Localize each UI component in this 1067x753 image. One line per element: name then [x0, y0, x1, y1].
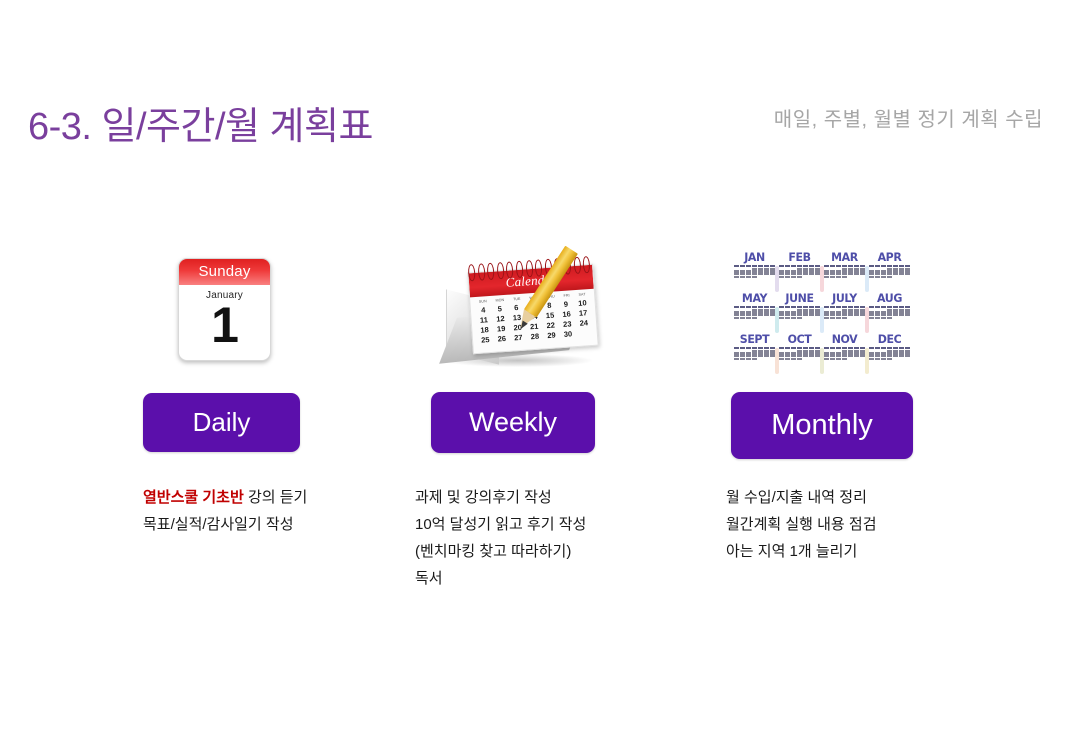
year-calendar-mini-grid: [779, 347, 820, 360]
year-calendar-month-name: FEB: [779, 252, 820, 265]
spiral-ring: [525, 260, 533, 277]
year-calendar-mini-grid: [734, 306, 775, 319]
year-calendar-row: MAYJUNEJULYAUG: [732, 293, 912, 333]
weekly-task-list: 과제 및 강의후기 작성10억 달성기 읽고 후기 작성(벤치마킹 찾고 따라하…: [415, 484, 586, 592]
spiral-ring: [583, 256, 591, 273]
desk-calendar-date: 28: [526, 331, 543, 342]
year-calendar-month: DEC: [867, 334, 912, 374]
year-calendar-month: OCT: [777, 334, 822, 374]
column-weekly: Calendar SUNMONTUEWEDTHUFRISAT 456789101…: [418, 240, 668, 380]
year-calendar-mini-grid: [869, 347, 910, 360]
spiral-ring: [477, 263, 485, 280]
year-calendar-month-name: JUNE: [779, 293, 820, 306]
year-calendar-month-name: SEPT: [734, 334, 775, 347]
year-calendar-month: JUNE: [777, 293, 822, 333]
task-highlight: 열반스쿨 기초반: [143, 489, 244, 506]
task-item: 과제 및 강의후기 작성: [415, 484, 586, 511]
year-calendar-month-name: OCT: [779, 334, 820, 347]
year-calendar-month: JULY: [822, 293, 867, 333]
task-item: 열반스쿨 기초반 강의 듣기: [143, 484, 307, 511]
daily-button[interactable]: Daily: [143, 393, 300, 452]
year-calendar-month: FEB: [777, 252, 822, 292]
weekly-icon-zone: Calendar SUNMONTUEWEDTHUFRISAT 456789101…: [418, 240, 668, 380]
year-calendar-month-name: APR: [869, 252, 910, 265]
year-calendar-month-name: DEC: [869, 334, 910, 347]
desk-calendar-date: 30: [559, 329, 576, 340]
year-calendar-month: JAN: [732, 252, 777, 292]
year-calendar-month: AUG: [867, 293, 912, 333]
year-calendar-month: MAR: [822, 252, 867, 292]
desk-calendar-day-name: MON: [495, 298, 504, 303]
spiral-ring: [506, 261, 514, 278]
year-calendar-mini-grid: [869, 306, 910, 319]
year-calendar-month-name: AUG: [869, 293, 910, 306]
spiral-ring: [468, 264, 476, 281]
desk-calendar-date: 24: [575, 318, 592, 329]
year-calendar-month-name: MAY: [734, 293, 775, 306]
daily-icon-zone: Sunday January 1: [143, 240, 393, 380]
desk-calendar-date: 26: [493, 334, 510, 345]
monthly-task-list: 월 수입/지출 내역 정리월간계획 실행 내용 점검아는 지역 1개 늘리기: [726, 484, 877, 565]
year-calendar-mini-grid: [824, 306, 865, 319]
year-calendar-month-name: JULY: [824, 293, 865, 306]
task-item: 월간계획 실행 내용 점검: [726, 511, 877, 538]
year-calendar-mini-grid: [779, 306, 820, 319]
desk-calendar-date: 25: [477, 335, 494, 346]
column-daily: Sunday January 1 Daily 열반스쿨 기초반 강의 듣기목표/…: [143, 240, 393, 380]
task-item: 아는 지역 1개 늘리기: [726, 538, 877, 565]
year-calendar-icon: JANFEBMARAPRMAYJUNEJULYAUGSEPTOCTNOVDEC: [732, 252, 912, 374]
year-calendar-month: NOV: [822, 334, 867, 374]
day-calendar-icon: Sunday January 1: [178, 258, 271, 361]
spiral-ring: [515, 261, 523, 278]
desk-calendar-date: 29: [543, 330, 560, 341]
year-calendar-mini-grid: [824, 265, 865, 278]
year-calendar-month: APR: [867, 252, 912, 292]
monthly-button[interactable]: Monthly: [731, 392, 913, 459]
day-calendar-day-number: 1: [179, 299, 270, 351]
year-calendar-mini-grid: [734, 347, 775, 360]
year-calendar-month-name: NOV: [824, 334, 865, 347]
task-item: 목표/실적/감사일기 작성: [143, 511, 307, 538]
year-calendar-mini-grid: [869, 265, 910, 278]
page-title: 6-3. 일/주간/월 계획표: [28, 95, 373, 150]
desk-calendar-day-name: SAT: [578, 292, 585, 296]
task-item: 10억 달성기 읽고 후기 작성: [415, 511, 586, 538]
task-item: 월 수입/지출 내역 정리: [726, 484, 877, 511]
year-calendar-mini-grid: [824, 347, 865, 360]
task-item: (벤치마킹 찾고 따라하기): [415, 538, 586, 565]
desk-calendar-day-name: TUE: [513, 297, 521, 302]
monthly-icon-zone: JANFEBMARAPRMAYJUNEJULYAUGSEPTOCTNOVDEC: [726, 240, 986, 380]
year-calendar-month-name: JAN: [734, 252, 775, 265]
year-calendar-month: MAY: [732, 293, 777, 333]
year-calendar-row: SEPTOCTNOVDEC: [732, 334, 912, 374]
year-calendar-mini-grid: [734, 265, 775, 278]
year-calendar-mini-grid: [779, 265, 820, 278]
year-calendar-row: JANFEBMARAPR: [732, 252, 912, 292]
task-item: 독서: [415, 565, 586, 592]
daily-task-list: 열반스쿨 기초반 강의 듣기목표/실적/감사일기 작성: [143, 484, 307, 538]
page-subtitle: 매일, 주별, 월별 정기 계획 수립: [774, 103, 1043, 132]
column-monthly: JANFEBMARAPRMAYJUNEJULYAUGSEPTOCTNOVDEC …: [726, 240, 986, 380]
desk-calendar-day-name: SUN: [479, 299, 487, 304]
spiral-ring: [496, 262, 504, 279]
desk-calendar-pencil-icon: Calendar SUNMONTUEWEDTHUFRISAT 456789101…: [430, 246, 605, 376]
year-calendar-month-name: MAR: [824, 252, 865, 265]
weekly-button[interactable]: Weekly: [431, 392, 595, 453]
day-calendar-weekday: Sunday: [179, 259, 270, 285]
year-calendar-month: SEPT: [732, 334, 777, 374]
desk-calendar-day-name: FRI: [563, 293, 569, 297]
spiral-ring: [487, 263, 495, 280]
spiral-ring: [535, 259, 543, 276]
